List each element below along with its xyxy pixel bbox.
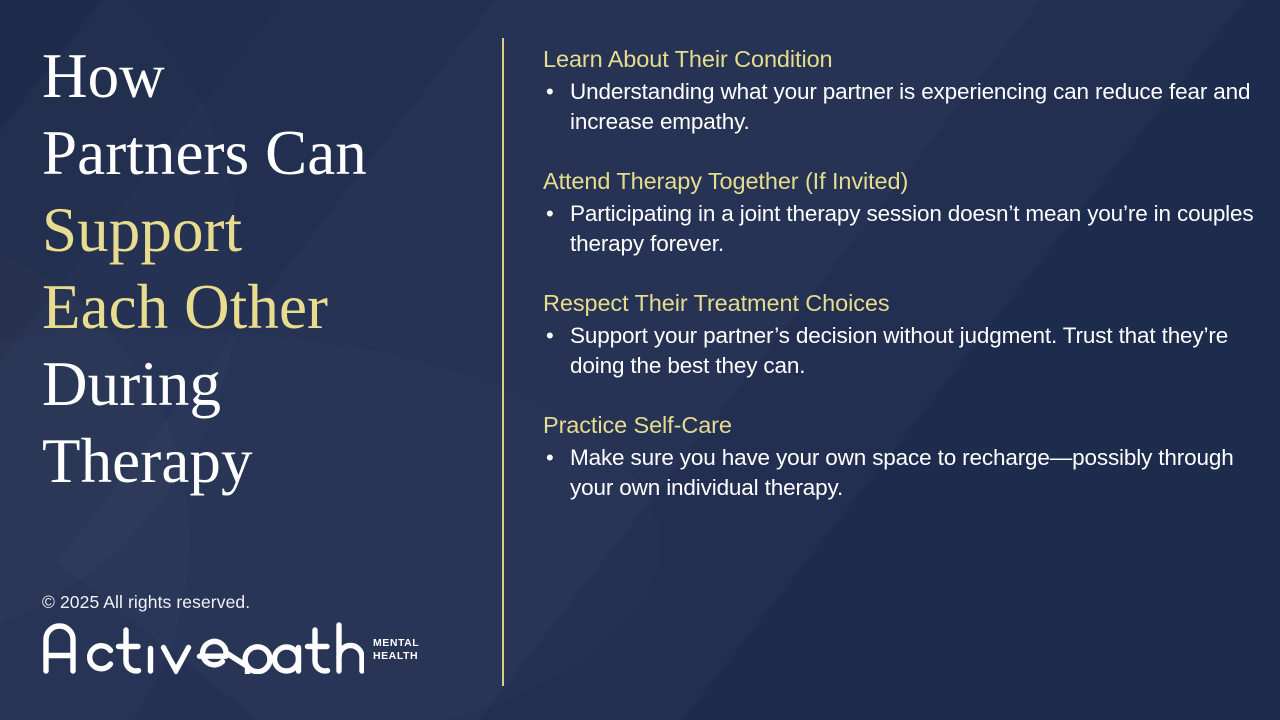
slide-root: HowPartners CanSupportEach OtherDuringTh… [0, 0, 1280, 720]
footer: © 2025 All rights reserved. [42, 592, 462, 679]
content-block-heading: Practice Self-Care [543, 410, 1259, 440]
bullet-item: •Understanding what your partner is expe… [543, 77, 1259, 136]
brand-logo: MENTAL HEALTH [42, 622, 462, 679]
left-column: HowPartners CanSupportEach OtherDuringTh… [42, 0, 492, 720]
bullet-text: Understanding what your partner is exper… [570, 77, 1259, 136]
page-title: HowPartners CanSupportEach OtherDuringTh… [42, 38, 367, 500]
page-title-line: Therapy [42, 423, 367, 500]
activepath-wordmark-icon [42, 622, 364, 679]
bullet-text: Participating in a joint therapy session… [570, 199, 1259, 258]
bullet-dot-icon: • [543, 77, 570, 107]
bullet-text: Make sure you have your own space to rec… [570, 443, 1259, 502]
bullet-item: •Make sure you have your own space to re… [543, 443, 1259, 502]
bullet-item: •Support your partner’s decision without… [543, 321, 1259, 380]
page-title-line: Each Other [42, 269, 367, 346]
bullet-dot-icon: • [543, 199, 570, 229]
page-title-line: Partners Can [42, 115, 367, 192]
brand-tagline-line1: MENTAL [373, 637, 419, 649]
content-block: Attend Therapy Together (If Invited)•Par… [543, 166, 1259, 258]
bullet-dot-icon: • [543, 443, 570, 473]
content-column: Learn About Their Condition•Understandin… [543, 44, 1259, 502]
content-block: Respect Their Treatment Choices•Support … [543, 288, 1259, 380]
page-title-line: How [42, 38, 367, 115]
bullet-item: •Participating in a joint therapy sessio… [543, 199, 1259, 258]
page-title-line: Support [42, 192, 367, 269]
bullet-text: Support your partner’s decision without … [570, 321, 1259, 380]
copyright-text: © 2025 All rights reserved. [42, 592, 462, 613]
content-block-heading: Learn About Their Condition [543, 44, 1259, 74]
brand-tagline: MENTAL HEALTH [373, 637, 419, 662]
brand-tagline-line2: HEALTH [373, 650, 418, 662]
content-block: Practice Self-Care•Make sure you have yo… [543, 410, 1259, 502]
vertical-divider [502, 38, 504, 686]
page-title-line: During [42, 346, 367, 423]
content-block-heading: Respect Their Treatment Choices [543, 288, 1259, 318]
bullet-dot-icon: • [543, 321, 570, 351]
content-block-heading: Attend Therapy Together (If Invited) [543, 166, 1259, 196]
content-block: Learn About Their Condition•Understandin… [543, 44, 1259, 136]
